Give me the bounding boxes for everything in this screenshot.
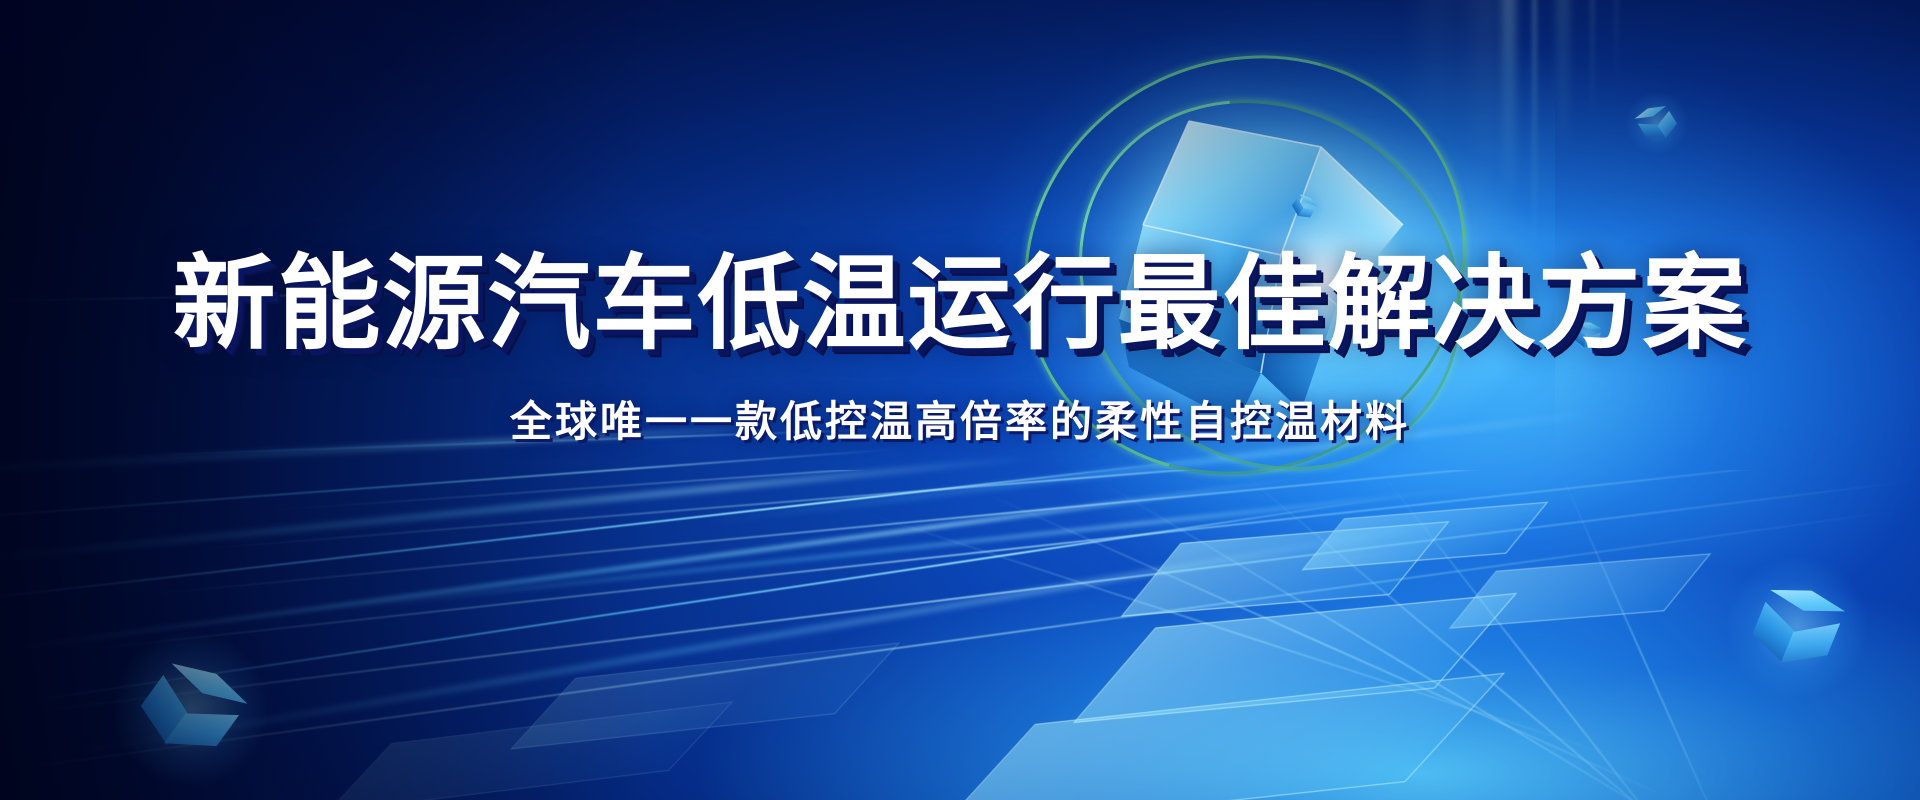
- floating-cube: [148, 666, 234, 752]
- page-title: 新能源汽车低温运行最佳解决方案: [0, 250, 1920, 358]
- perspective-floor: [0, 470, 1920, 800]
- cube-face-right: [1781, 608, 1842, 674]
- vertical-beam: [1532, 0, 1537, 260]
- floating-cube: [1293, 196, 1315, 218]
- floating-cube: [1758, 588, 1836, 666]
- hero-banner: 新能源汽车低温运行最佳解决方案 全球唯一一款低控温高倍率的柔性自控温材料: [0, 0, 1920, 800]
- cube-body: [1745, 580, 1849, 674]
- vertical-beam: [1590, 0, 1595, 120]
- cube-body: [1289, 192, 1320, 223]
- vertical-beam: [1614, 0, 1619, 80]
- headline-block: 新能源汽车低温运行最佳解决方案 全球唯一一款低控温高倍率的柔性自控温材料: [0, 250, 1920, 449]
- vertical-beam: [1556, 0, 1570, 155]
- floating-cube: [1640, 106, 1674, 140]
- page-subtitle: 全球唯一一款低控温高倍率的柔性自控温材料: [0, 388, 1920, 449]
- vertical-beam: [1502, 0, 1516, 210]
